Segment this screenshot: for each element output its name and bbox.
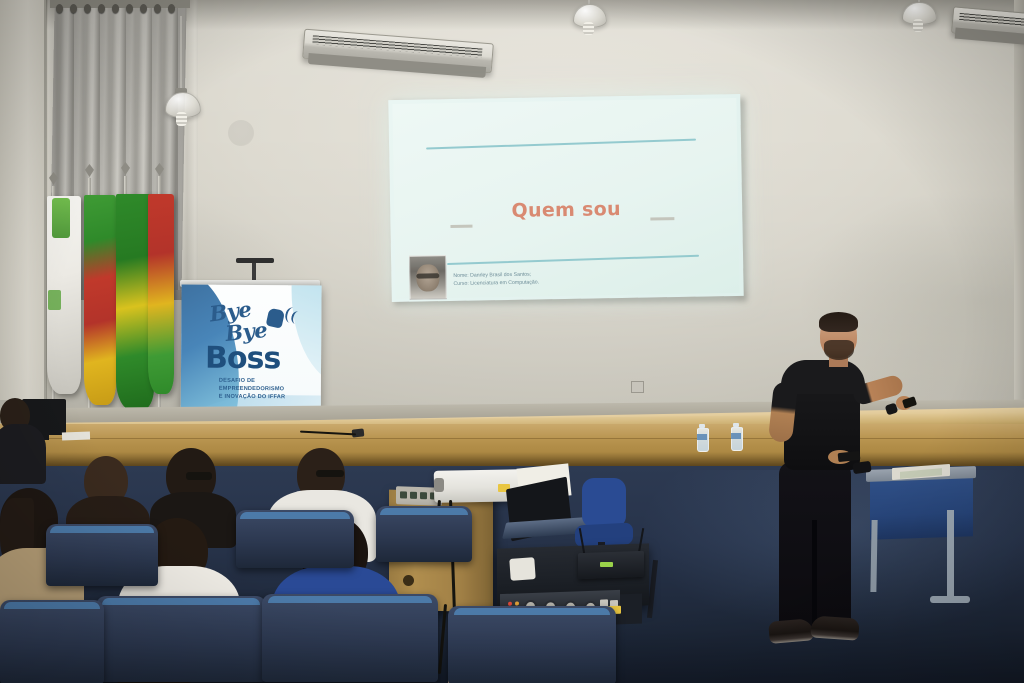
bottle-cap bbox=[733, 423, 739, 427]
blue-office-chair-back bbox=[582, 478, 626, 528]
auditorium-seat[interactable] bbox=[46, 524, 158, 586]
banner-brand-boss: Boss bbox=[205, 341, 280, 377]
projector-lens-icon bbox=[434, 478, 444, 492]
light-bulb-icon bbox=[176, 112, 187, 126]
slide-dash-right bbox=[650, 217, 674, 220]
desk-leg bbox=[947, 510, 954, 602]
slide-title: Quem sou bbox=[394, 196, 738, 224]
desk-leg bbox=[870, 520, 877, 592]
slide-name-line: Nome: Danrley Brasil dos Santos; bbox=[453, 272, 531, 280]
left-wall-corner bbox=[0, 0, 46, 400]
waving-hand-icon bbox=[266, 308, 285, 329]
slide-top-rule bbox=[426, 139, 696, 150]
eyeglasses-icon bbox=[186, 472, 212, 480]
banner-subtitle-line1: DESAFIO DE bbox=[219, 377, 255, 385]
slide-dash-left bbox=[450, 225, 472, 228]
desk-foot bbox=[930, 596, 970, 603]
flag-detail bbox=[48, 290, 61, 310]
auditorium-seat[interactable] bbox=[262, 594, 438, 682]
presenter-beard bbox=[824, 340, 854, 360]
presenter-shoe-left bbox=[768, 618, 814, 644]
receiver-display bbox=[600, 562, 613, 567]
flag-fourth bbox=[148, 194, 174, 394]
audience-body bbox=[0, 424, 46, 484]
auditorium-seat[interactable] bbox=[376, 506, 472, 562]
eyeglasses-icon bbox=[316, 470, 344, 477]
flag-detail bbox=[52, 198, 70, 238]
banner-stand-top bbox=[236, 258, 274, 263]
bottle-label bbox=[697, 434, 707, 440]
auditorium-seat[interactable] bbox=[448, 606, 616, 683]
wall-outlet bbox=[631, 381, 644, 393]
side-desk-front bbox=[870, 476, 973, 540]
slide-portrait-photo bbox=[409, 255, 447, 300]
pendant-cord bbox=[180, 16, 182, 90]
auditorium-seat[interactable] bbox=[236, 510, 354, 568]
curtain-rail bbox=[50, 0, 190, 8]
wall-sconce bbox=[228, 120, 254, 146]
light-bulb-icon bbox=[913, 19, 923, 32]
banner-subtitle-line3: E INOVAÇÃO DO IFFAR bbox=[219, 393, 286, 401]
pedestal-hole bbox=[403, 575, 414, 586]
banner-swoosh bbox=[291, 285, 322, 386]
slide-course-line: Curso: Licenciatura em Computação. bbox=[453, 279, 539, 287]
auditorium-photo: Quem sou Nome: Danrley Brasil dos Santos… bbox=[0, 0, 1024, 683]
right-wall-edge bbox=[1014, 0, 1024, 430]
presenter-leg-gap bbox=[812, 520, 817, 632]
water-bottle bbox=[731, 427, 743, 451]
bottle-label bbox=[731, 433, 741, 439]
presenter-hair bbox=[819, 312, 858, 332]
bottle-cap bbox=[699, 424, 705, 428]
slide-surface: Quem sou Nome: Danrley Brasil dos Santos… bbox=[392, 98, 739, 299]
white-cloth bbox=[509, 557, 535, 581]
water-bottle bbox=[697, 428, 709, 452]
paper-sheet bbox=[62, 432, 90, 441]
light-bulb-icon bbox=[583, 22, 594, 35]
flag-rio-grande-do-sul bbox=[84, 195, 116, 405]
auditorium-seat[interactable] bbox=[0, 600, 104, 683]
slide-bottom-rule bbox=[447, 255, 699, 265]
projection-screen: Quem sou Nome: Danrley Brasil dos Santos… bbox=[388, 94, 743, 302]
presenter-shoe-right bbox=[810, 615, 859, 640]
auditorium-seat[interactable] bbox=[96, 596, 266, 682]
